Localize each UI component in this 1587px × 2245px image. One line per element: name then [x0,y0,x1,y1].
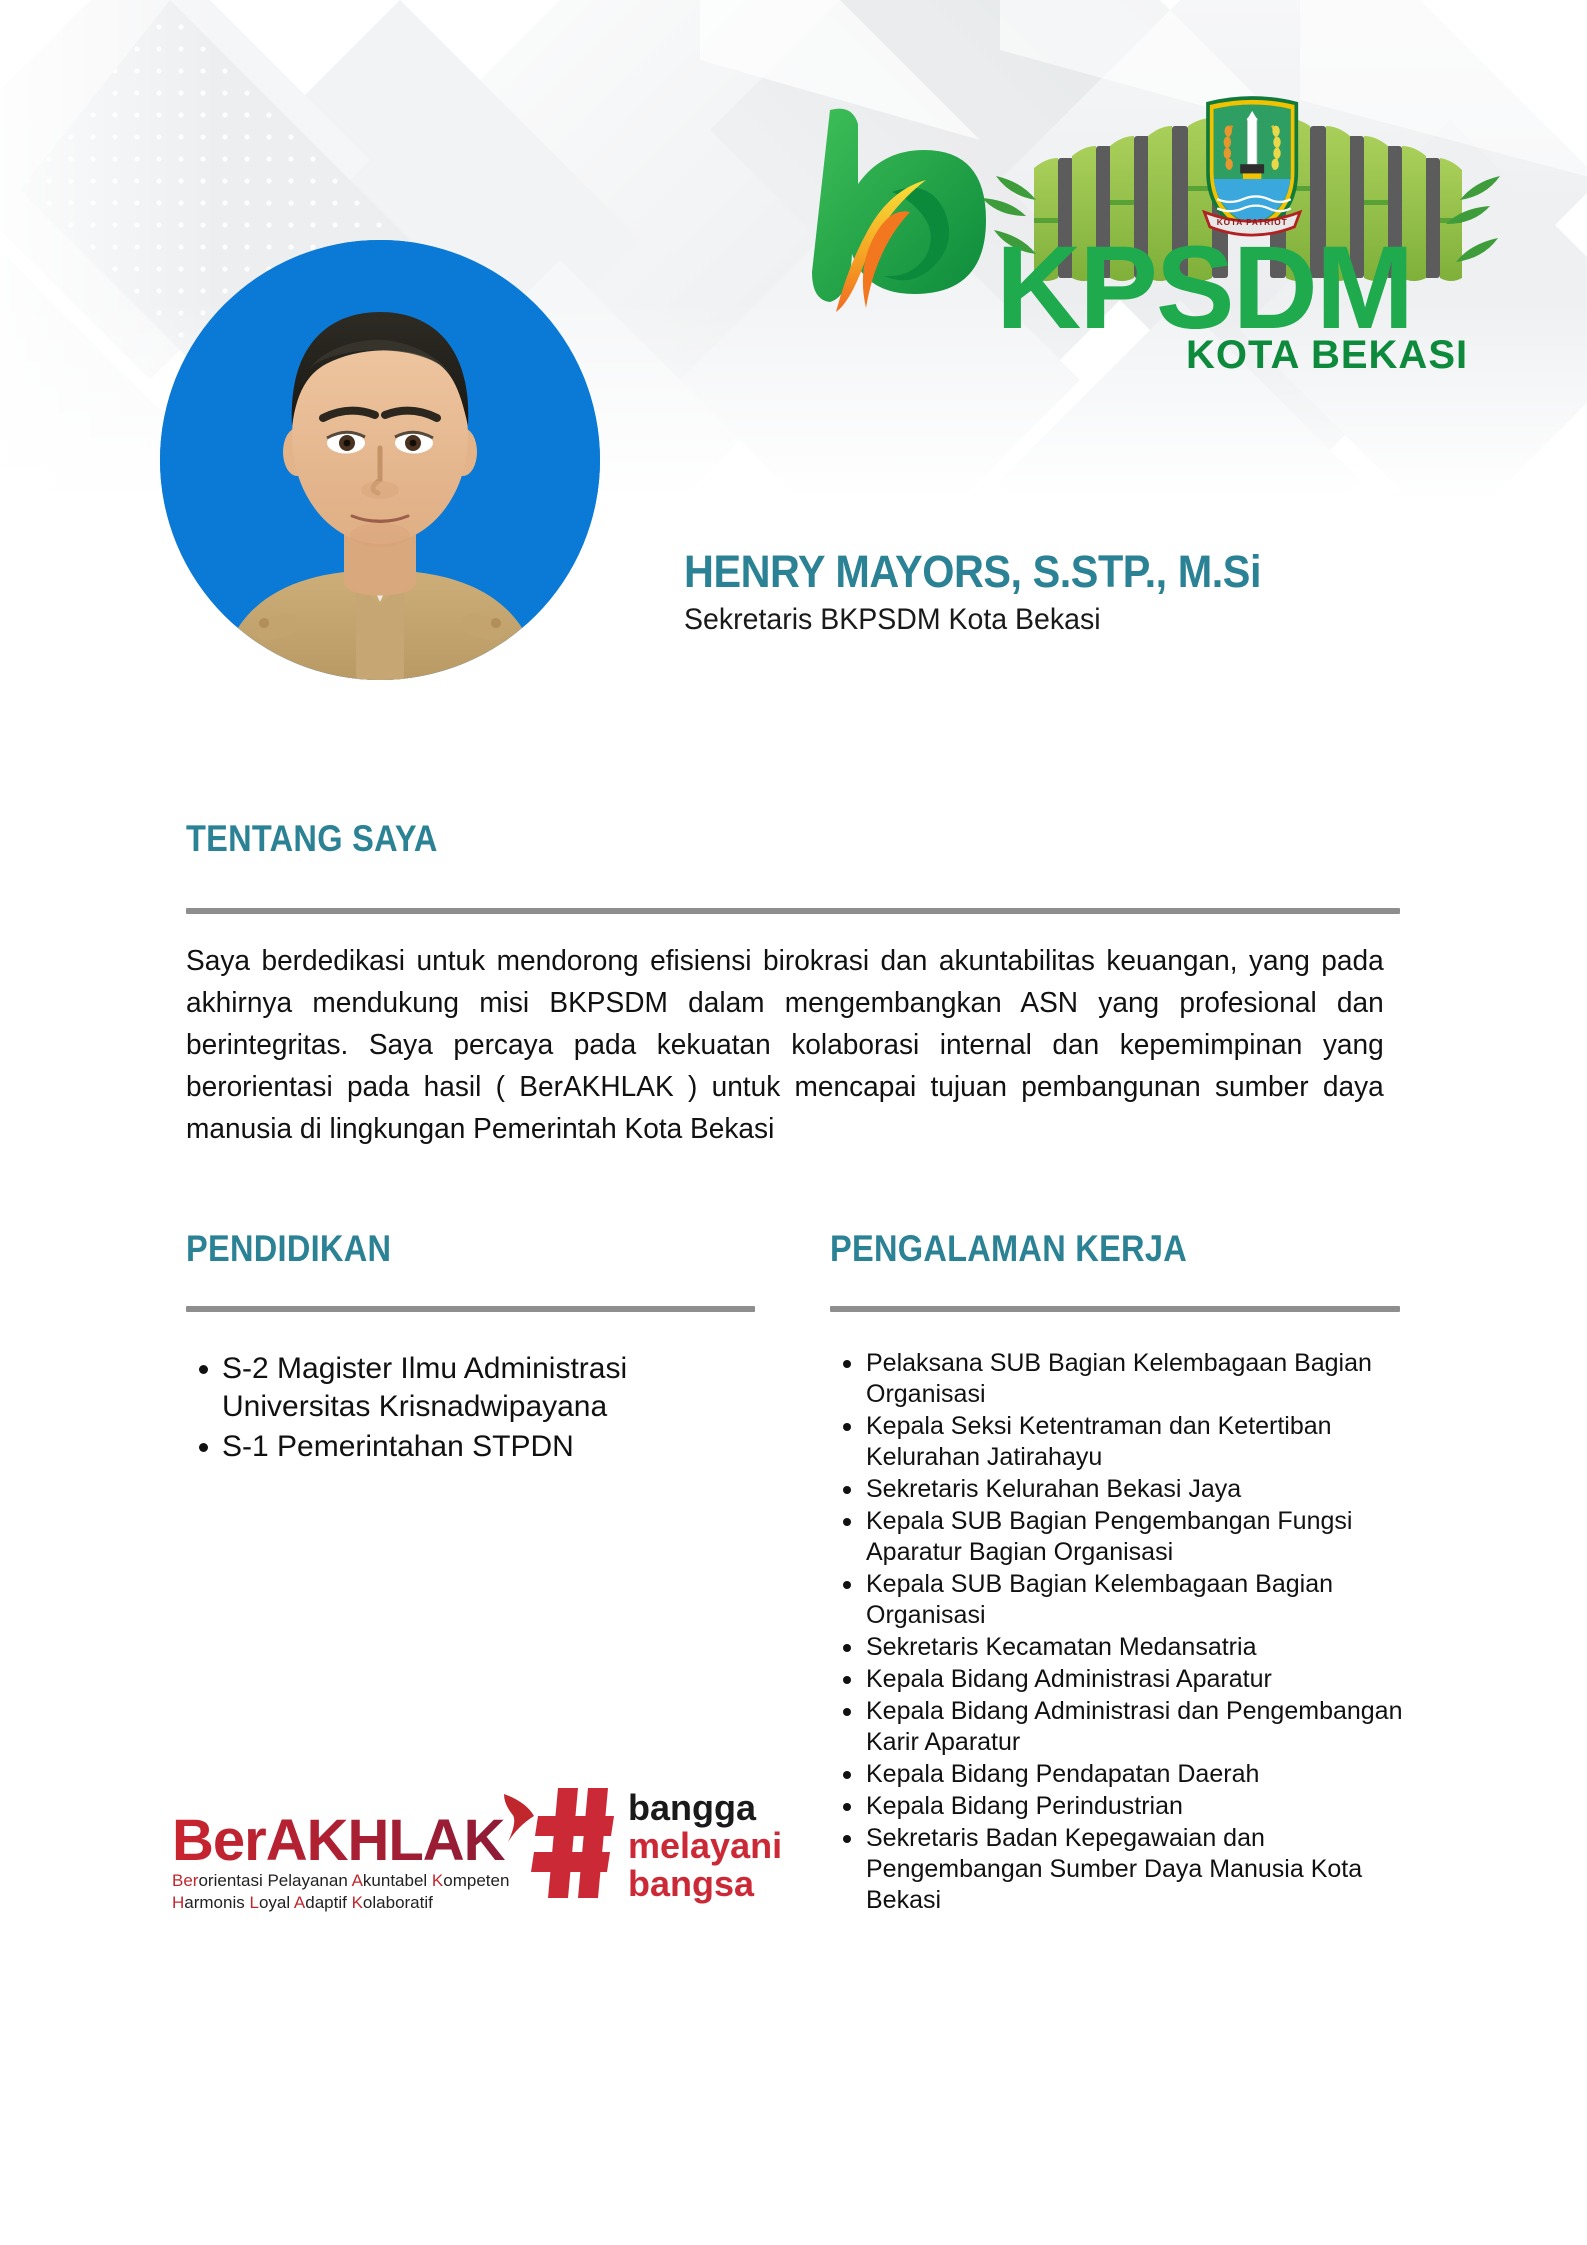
bkpsdm-logo-graphic: KOTA PATRIOT KPSDM KOTA BEKASI [800,80,1500,380]
b-monogram-icon [812,109,986,312]
page-title: HENRY MAYORS, S.STP., M.Si [684,548,1475,595]
list-item: S-2 Magister Ilmu Administrasi Universit… [186,1350,746,1426]
list-item: Kepala Bidang Pendapatan Daerah [830,1759,1405,1790]
education-divider [186,1306,755,1312]
experience-list: Pelaksana SUB Bagian Kelembagaan Bagian … [830,1348,1405,1917]
bkpsdm-logo: KOTA PATRIOT KPSDM KOTA BEKASI [800,80,1500,380]
list-item: Kepala Seksi Ketentraman dan Ketertiban … [830,1411,1405,1473]
list-item: Kepala SUB Bagian Pengembangan Fungsi Ap… [830,1506,1405,1568]
berakhlak-logo: BerAKHLAK Berorientasi Pelayanan Akuntab… [172,1794,534,1912]
profile-job-title: Sekretaris BKPSDM Kota Bekasi [684,603,1501,638]
berakhlak-tagline-line1: Berorientasi Pelayanan Akuntabel Kompete… [172,1871,509,1890]
avatar [160,240,600,680]
list-item: Pelaksana SUB Bagian Kelembagaan Bagian … [830,1348,1405,1410]
education-list: S-2 Magister Ilmu Administrasi Universit… [186,1350,746,1468]
list-item: Kepala SUB Bagian Kelembagaan Bagian Org… [830,1569,1405,1631]
footer-logo-group: BerAKHLAK Berorientasi Pelayanan Akuntab… [168,1768,788,1928]
experience-heading: PENGALAMAN KERJA [830,1228,1187,1270]
bangga-line3: bangsa [628,1863,755,1904]
bangga-line2: melayani [628,1825,782,1866]
list-item: S-1 Pemerintahan STPDN [186,1428,746,1466]
bangga-line1: bangga [628,1787,757,1828]
list-item: Kepala Bidang Administrasi dan Pengemban… [830,1696,1405,1758]
education-heading: PENDIDIKAN [186,1228,391,1270]
berakhlak-tagline-line2: Harmonis Loyal Adaptif Kolaboratif [172,1893,433,1912]
about-divider [186,908,1400,914]
list-item: Kepala Bidang Perindustrian [830,1791,1405,1822]
footer-logos-graphic: BerAKHLAK Berorientasi Pelayanan Akuntab… [168,1768,788,1928]
portrait-photo [160,240,600,680]
profile-name-block: HENRY MAYORS, S.STP., M.Si Sekretaris BK… [684,548,1544,638]
hash-icon [531,1788,614,1898]
berakhlak-wordmark: BerAKHLAK [172,1808,506,1873]
about-body-text: Saya berdedikasi untuk mendorong efisien… [186,940,1384,1150]
list-item: Sekretaris Kelurahan Bekasi Jaya [830,1474,1405,1505]
about-heading: TENTANG SAYA [186,818,1254,860]
bkpsdm-subtitle: KOTA BEKASI [1186,333,1468,377]
list-item: Sekretaris Kecamatan Medansatria [830,1632,1405,1663]
list-item: Sekretaris Badan Kepegawaian dan Pengemb… [830,1823,1405,1916]
bangga-melayani-bangsa-logo: bangga melayani bangsa [531,1787,782,1904]
experience-divider [830,1306,1400,1312]
list-item: Kepala Bidang Administrasi Aparatur [830,1664,1405,1695]
